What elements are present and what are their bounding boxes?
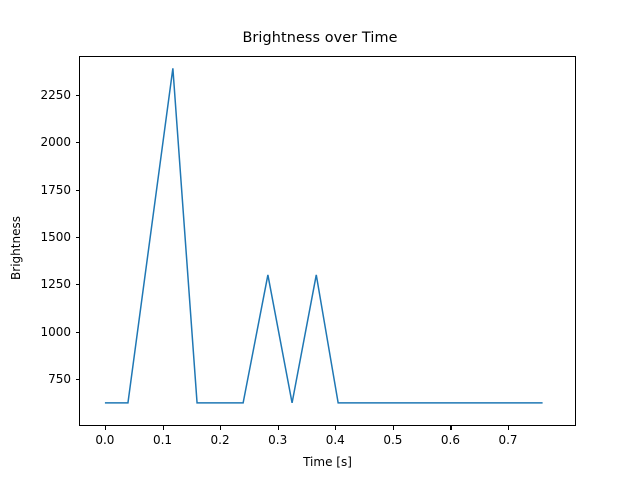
y-tick-mark <box>76 237 80 238</box>
x-tick-mark <box>393 426 394 430</box>
x-tick-mark <box>278 426 279 430</box>
y-tick-label: 750 <box>0 372 71 386</box>
y-tick-mark <box>76 95 80 96</box>
y-tick-mark <box>76 332 80 333</box>
x-tick-mark <box>220 426 221 430</box>
data-line-plot <box>79 56 576 426</box>
y-axis-label: Brightness <box>9 148 23 348</box>
x-tick-label: 0.7 <box>498 433 517 447</box>
x-tick-mark <box>508 426 509 430</box>
chart-title: Brightness over Time <box>0 30 640 46</box>
x-tick-label: 0.2 <box>211 433 230 447</box>
x-tick-mark <box>163 426 164 430</box>
y-tick-label: 2250 <box>0 88 71 102</box>
x-tick-label: 0.5 <box>383 433 402 447</box>
y-tick-mark <box>76 379 80 380</box>
x-tick-label: 0.0 <box>95 433 114 447</box>
x-tick-mark <box>450 426 451 430</box>
x-tick-mark <box>335 426 336 430</box>
y-tick-mark <box>76 284 80 285</box>
brightness-line <box>105 68 543 403</box>
x-tick-label: 0.6 <box>441 433 460 447</box>
y-tick-mark <box>76 142 80 143</box>
x-tick-label: 0.4 <box>326 433 345 447</box>
x-axis-label: Time [s] <box>79 455 576 469</box>
chart-figure: Brightness over Time 7501000125015001750… <box>0 0 640 480</box>
y-tick-mark <box>76 190 80 191</box>
x-tick-mark <box>105 426 106 430</box>
x-tick-label: 0.1 <box>153 433 172 447</box>
x-tick-label: 0.3 <box>268 433 287 447</box>
